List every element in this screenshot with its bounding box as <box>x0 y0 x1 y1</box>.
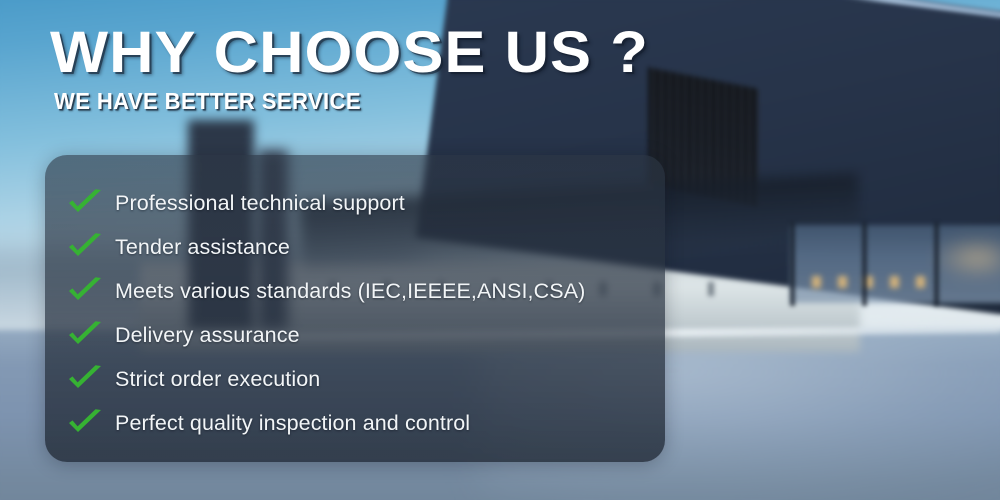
feature-panel: Professional technical support Tender as… <box>45 155 665 462</box>
page-subtitle: WE HAVE BETTER SERVICE <box>54 88 593 115</box>
list-item-label: Delivery assurance <box>115 323 300 348</box>
list-item-label: Strict order execution <box>115 367 320 392</box>
check-icon <box>67 232 105 262</box>
check-icon <box>67 364 105 394</box>
list-item: Strict order execution <box>45 357 665 401</box>
check-icon <box>67 188 105 218</box>
list-item: Professional technical support <box>45 181 665 225</box>
check-icon <box>67 408 105 438</box>
page-title: WHY CHOOSE US ? <box>50 24 649 82</box>
list-item-label: Tender assistance <box>115 235 290 260</box>
list-item-label: Professional technical support <box>115 191 405 216</box>
why-choose-us-banner: WHY CHOOSE US ? WE HAVE BETTER SERVICE P… <box>0 0 1000 500</box>
check-icon <box>67 320 105 350</box>
banner-header: WHY CHOOSE US ? WE HAVE BETTER SERVICE <box>50 24 615 115</box>
list-item: Meets various standards (IEC,IEEEE,ANSI,… <box>45 269 665 313</box>
right-glazing-posts <box>790 222 1000 306</box>
list-item-label: Perfect quality inspection and control <box>115 411 470 436</box>
feature-list: Professional technical support Tender as… <box>45 155 665 445</box>
list-item: Perfect quality inspection and control <box>45 401 665 445</box>
list-item: Delivery assurance <box>45 313 665 357</box>
list-item: Tender assistance <box>45 225 665 269</box>
check-icon <box>67 276 105 306</box>
list-item-label: Meets various standards (IEC,IEEEE,ANSI,… <box>115 279 585 304</box>
